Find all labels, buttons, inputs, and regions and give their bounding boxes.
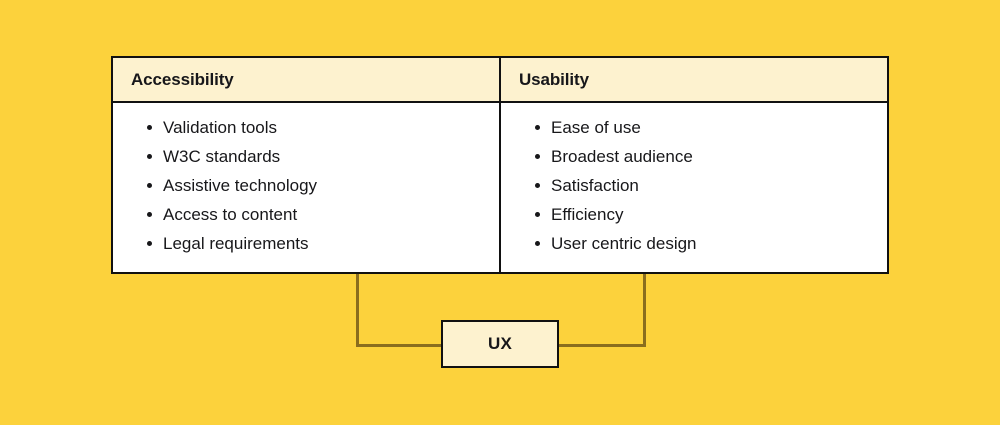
list-item-label: Efficiency [551, 205, 623, 224]
list-item-label: Legal requirements [163, 234, 309, 253]
list-item-label: Assistive technology [163, 176, 317, 195]
comparison-table: Accessibility Validation tools W3C stand… [111, 56, 889, 274]
list-item-label: Satisfaction [551, 176, 639, 195]
accessibility-list: Validation tools W3C standards Assistive… [113, 113, 499, 258]
list-item: User centric design [501, 229, 887, 258]
bullet-dot-icon [147, 241, 152, 246]
column-usability: Usability Ease of use Broadest audience … [501, 58, 887, 272]
bullet-dot-icon [535, 212, 540, 217]
list-item: Validation tools [113, 113, 499, 142]
list-item-label: Access to content [163, 205, 297, 224]
connector-right-vertical [643, 274, 646, 347]
list-item: Legal requirements [113, 229, 499, 258]
column-header-label: Accessibility [131, 70, 234, 90]
list-item: Access to content [113, 200, 499, 229]
connector-left-horizontal [356, 344, 443, 347]
list-item-label: User centric design [551, 234, 697, 253]
bullet-dot-icon [535, 125, 540, 130]
column-header-usability: Usability [501, 58, 887, 103]
ux-node-label: UX [488, 334, 512, 354]
bullet-dot-icon [147, 125, 152, 130]
column-accessibility: Accessibility Validation tools W3C stand… [113, 58, 501, 272]
bullet-dot-icon [535, 183, 540, 188]
column-header-label: Usability [519, 70, 589, 90]
ux-node: UX [441, 320, 559, 368]
list-item-label: Validation tools [163, 118, 277, 137]
bullet-dot-icon [147, 183, 152, 188]
bullet-dot-icon [535, 154, 540, 159]
list-item-label: Broadest audience [551, 147, 693, 166]
bullet-dot-icon [535, 241, 540, 246]
diagram-canvas: Accessibility Validation tools W3C stand… [0, 0, 1000, 425]
connector-right-horizontal [557, 344, 646, 347]
list-item: Ease of use [501, 113, 887, 142]
bullet-dot-icon [147, 212, 152, 217]
list-item-label: W3C standards [163, 147, 280, 166]
list-item: W3C standards [113, 142, 499, 171]
column-body-accessibility: Validation tools W3C standards Assistive… [113, 103, 499, 272]
list-item: Efficiency [501, 200, 887, 229]
list-item: Assistive technology [113, 171, 499, 200]
list-item-label: Ease of use [551, 118, 641, 137]
connector-left-vertical [356, 274, 359, 347]
usability-list: Ease of use Broadest audience Satisfacti… [501, 113, 887, 258]
column-body-usability: Ease of use Broadest audience Satisfacti… [501, 103, 887, 272]
list-item: Satisfaction [501, 171, 887, 200]
bullet-dot-icon [147, 154, 152, 159]
column-header-accessibility: Accessibility [113, 58, 499, 103]
list-item: Broadest audience [501, 142, 887, 171]
